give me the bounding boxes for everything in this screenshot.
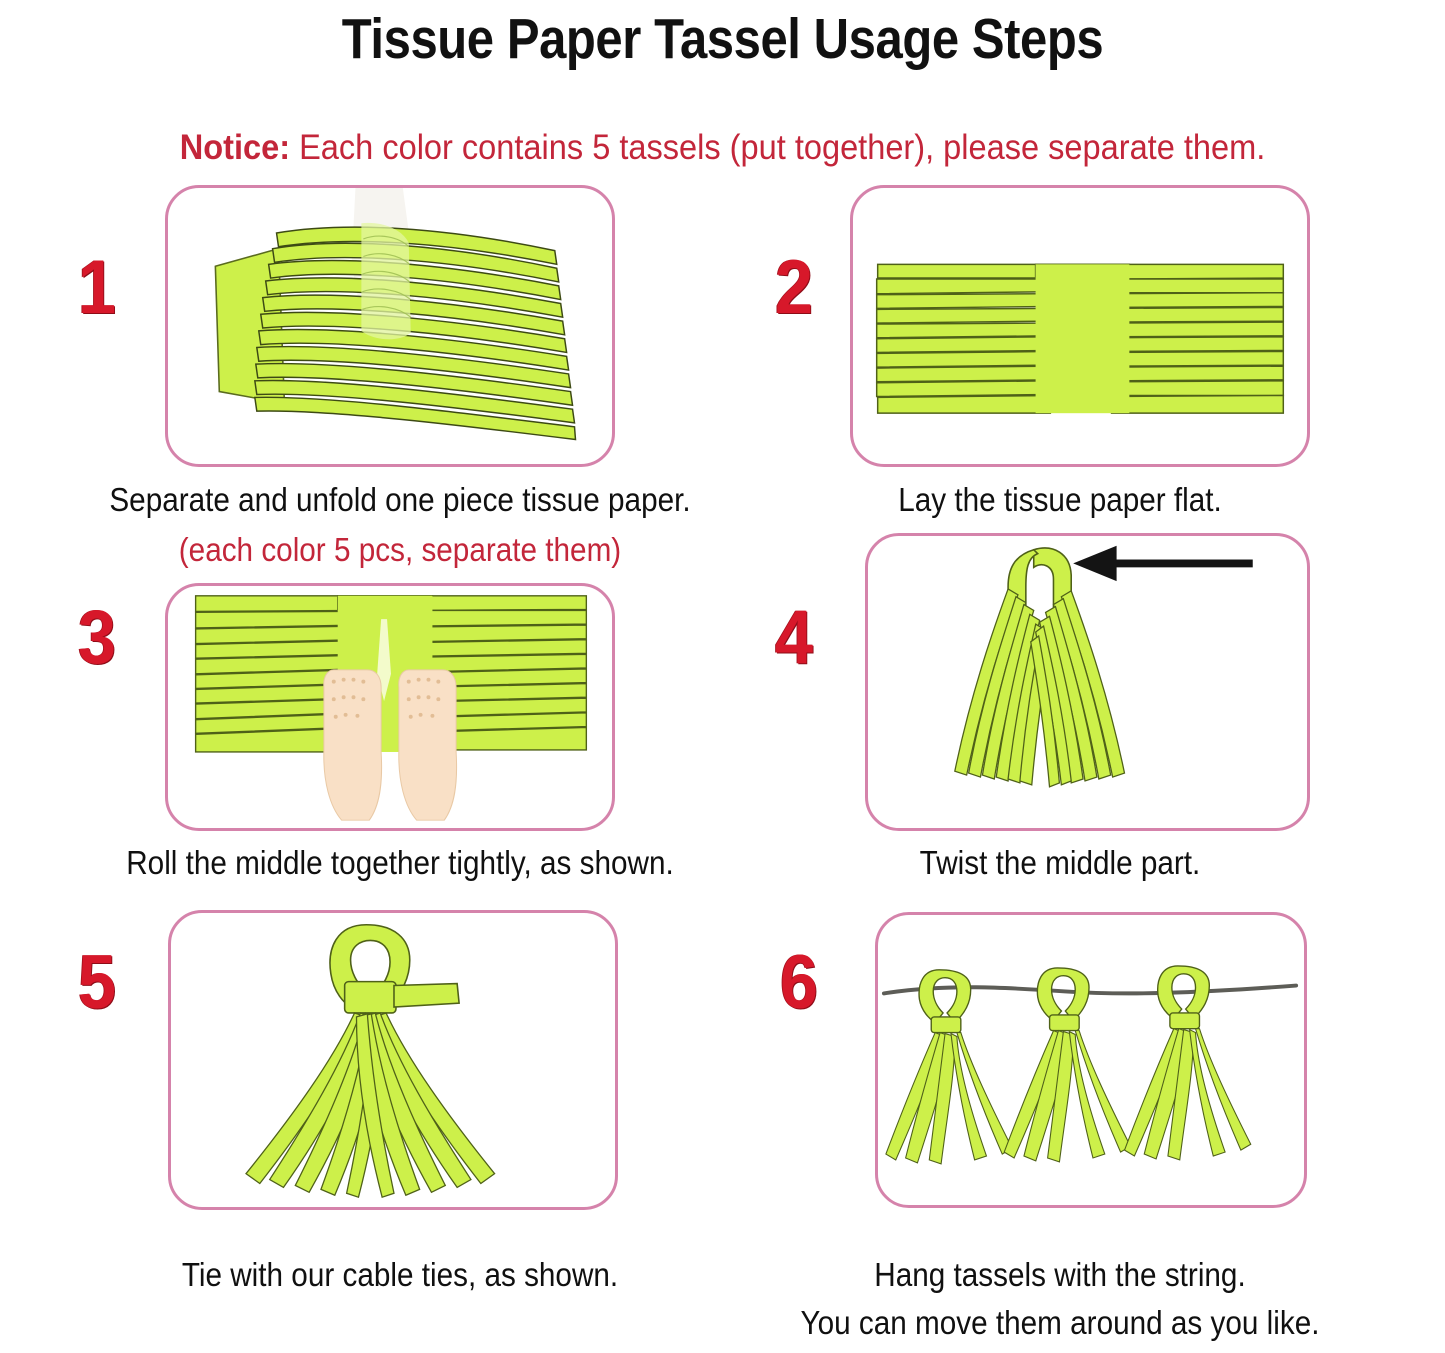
right-hand <box>399 670 457 820</box>
tassel-2 <box>1004 968 1130 1162</box>
flat-fringed-sheet-icon <box>853 188 1307 464</box>
step-number-5: 5 <box>78 945 116 1021</box>
folded-loop-with-arrow-icon <box>868 536 1307 828</box>
step-2-illustration <box>850 185 1310 467</box>
fringed-sheet-held-icon <box>168 188 612 464</box>
step-4-caption: Twist the middle part. <box>718 843 1402 883</box>
hanging-string <box>884 986 1296 994</box>
step-1-subcaption: (each color 5 pcs, separate them) <box>40 530 760 570</box>
step-5-caption: Tie with our cable ties, as shown. <box>40 1255 760 1295</box>
three-tassels-on-string-icon <box>878 915 1304 1205</box>
step-6-caption: Hang tassels with the string. <box>718 1255 1402 1295</box>
step-5-illustration <box>168 910 618 1210</box>
tassel-with-cable-tie-icon <box>171 913 615 1207</box>
step-6-subcaption: You can move them around as you like. <box>718 1303 1402 1343</box>
notice-text: Each color contains 5 tassels (put toget… <box>290 128 1265 167</box>
page-title: Tissue Paper Tassel Usage Steps <box>101 6 1344 72</box>
step-6-illustration <box>875 912 1307 1208</box>
step-number-4: 4 <box>775 600 813 676</box>
step-1-illustration <box>165 185 615 467</box>
tassel-instruction-sheet: Tissue Paper Tassel Usage Steps Notice: … <box>0 0 1445 1353</box>
step-number-6: 6 <box>780 945 818 1021</box>
notice-line: Notice: Each color contains 5 tassels (p… <box>51 128 1395 168</box>
tassel-1 <box>886 970 1012 1164</box>
step-4-illustration <box>865 533 1310 831</box>
step-number-2: 2 <box>775 250 813 326</box>
left-hand <box>324 670 382 820</box>
step-2-caption: Lay the tissue paper flat. <box>718 480 1402 520</box>
step-3-caption: Roll the middle together tightly, as sho… <box>40 843 760 883</box>
step-1-caption: Separate and unfold one piece tissue pap… <box>40 480 760 520</box>
tassel-3 <box>1125 966 1251 1160</box>
notice-label: Notice: <box>180 128 290 167</box>
direction-arrow-icon <box>1073 546 1253 581</box>
hands-rolling-middle-icon <box>168 586 612 828</box>
step-number-3: 3 <box>78 600 116 676</box>
step-3-illustration <box>165 583 615 831</box>
step-number-1: 1 <box>78 250 116 326</box>
